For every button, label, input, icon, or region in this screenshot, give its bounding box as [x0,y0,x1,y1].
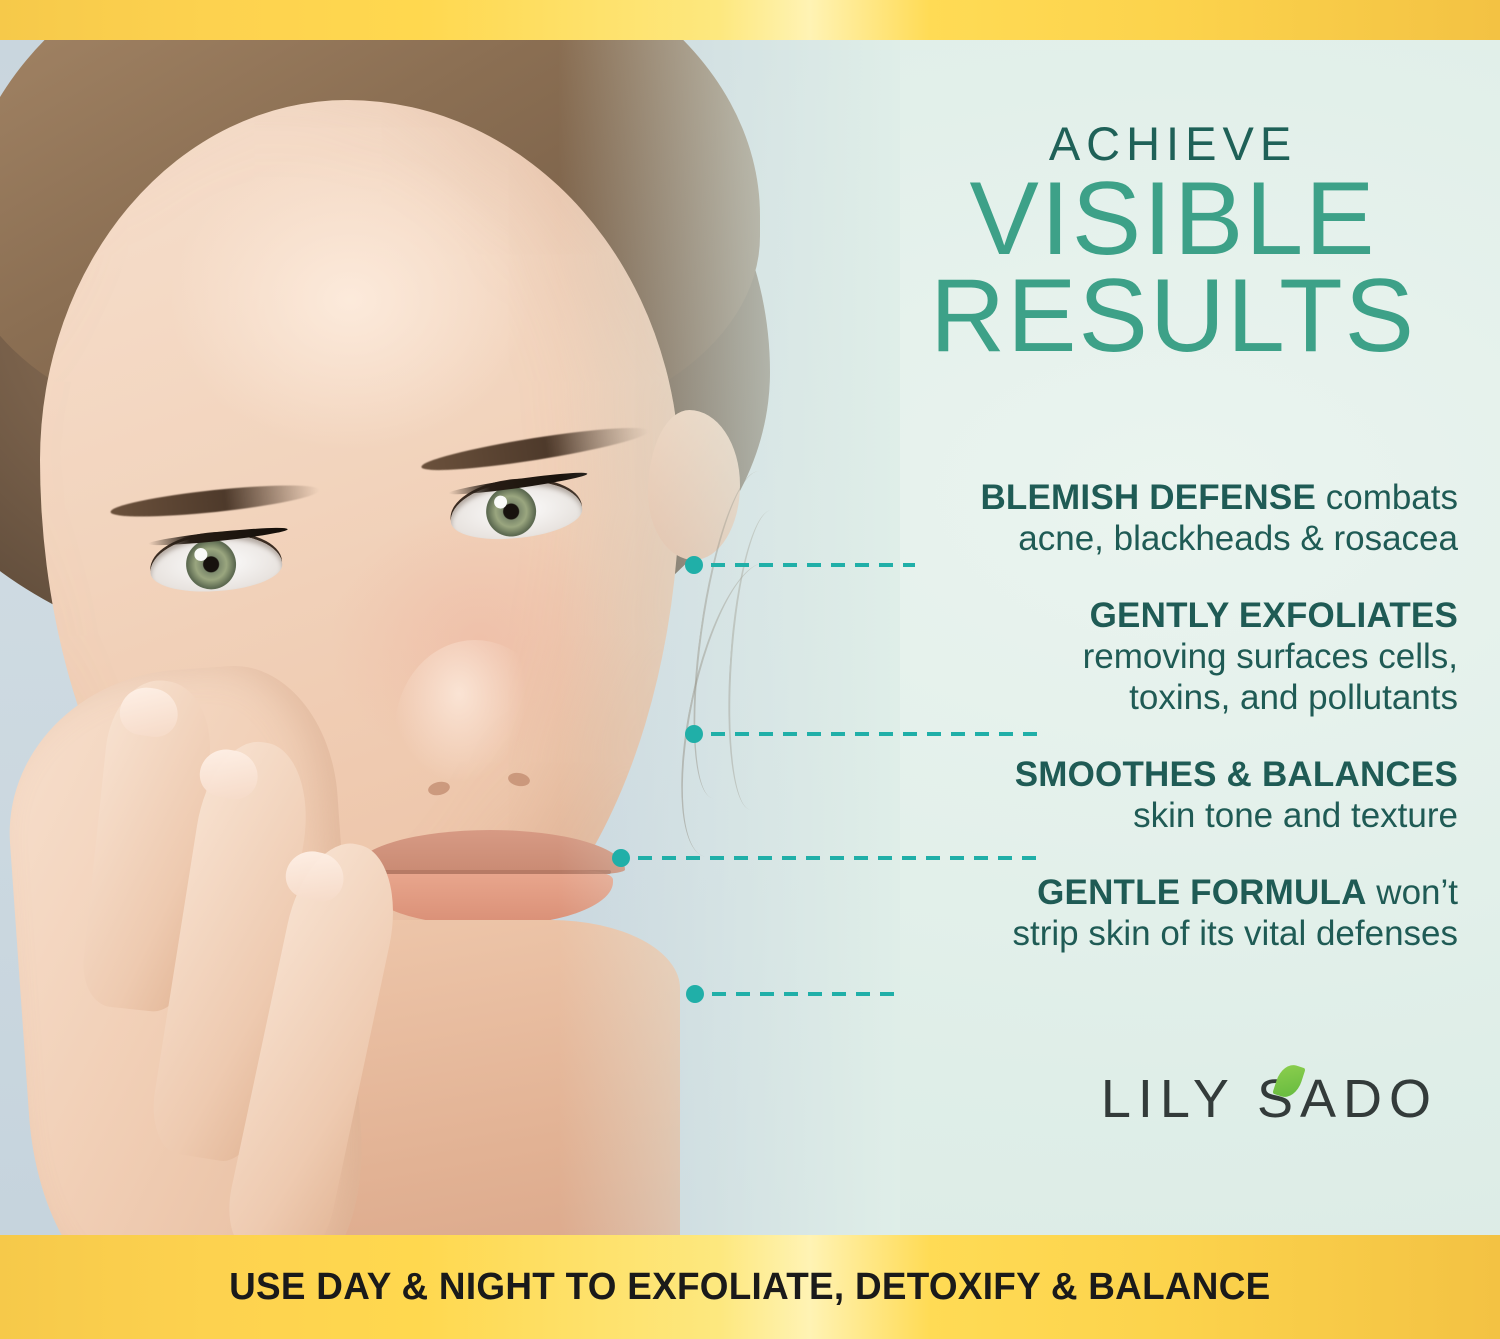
benefit-title: SMOOTHES & BALANCES [1015,755,1458,794]
benefit-item-blemish-defense: BLEMISH DEFENSE combats acne, blackheads… [858,478,1458,560]
benefit-title-suffix: won’t [1367,873,1458,912]
benefit-line-1: SMOOTHES & BALANCES [858,755,1458,796]
headline-block: ACHIEVE VISIBLE RESULTS [888,120,1458,364]
benefit-line-1: BLEMISH DEFENSE combats [858,478,1458,519]
product-infographic-poster: ACHIEVE VISIBLE RESULTS BLEMISH DEFENSE … [0,0,1500,1339]
benefit-line-1: GENTLY EXFOLIATES [858,596,1458,637]
headline-main: VISIBLE RESULTS [888,171,1458,364]
benefit-title-suffix: combats [1316,478,1458,517]
headline-line-2: RESULTS [888,268,1458,365]
bottom-accent-band: USE DAY & NIGHT TO EXFOLIATE, DETOXIFY &… [0,1235,1500,1339]
leader-line-gentle-formula [686,985,901,1003]
benefit-line-2: acne, blackheads & rosacea [858,519,1458,560]
bottom-banner-text: USE DAY & NIGHT TO EXFOLIATE, DETOXIFY &… [229,1266,1270,1309]
leader-dash-icon [638,856,1037,860]
photo-edge-fade [0,40,900,1235]
benefits-list: BLEMISH DEFENSE combats acne, blackheads… [858,478,1458,954]
benefit-title: BLEMISH DEFENSE [980,478,1316,517]
leader-dash-icon [712,992,901,996]
leader-dot-icon [685,725,703,743]
model-portrait-photo [0,40,900,1235]
leader-line-smoothes-balances [612,849,1037,867]
leader-dot-icon [612,849,630,867]
leader-dash-icon [711,732,1040,736]
benefit-title: GENTLY EXFOLIATES [1090,596,1458,635]
benefit-line-2: skin tone and texture [858,796,1458,837]
brand-name: LILY SADO [1101,1072,1438,1126]
benefit-item-smoothes-balances: SMOOTHES & BALANCES skin tone and textur… [858,755,1458,837]
benefit-item-gently-exfoliates: GENTLY EXFOLIATES removing surfaces cell… [858,596,1458,719]
headline-line-1: VISIBLE [888,171,1458,268]
benefit-line-1: GENTLE FORMULA won’t [858,873,1458,914]
benefit-line-3: toxins, and pollutants [858,678,1458,719]
leader-dot-icon [686,985,704,1003]
benefit-item-gentle-formula: GENTLE FORMULA won’t strip skin of its v… [858,873,1458,955]
leader-dot-icon [685,556,703,574]
benefit-title: GENTLE FORMULA [1037,873,1366,912]
benefit-line-2: strip skin of its vital defenses [858,914,1458,955]
leader-dash-icon [711,563,915,567]
top-accent-band [0,0,1500,40]
leader-line-blemish-defense [685,556,915,574]
headline-kicker: ACHIEVE [888,120,1458,167]
benefit-line-2: removing surfaces cells, [858,637,1458,678]
brand-logo: LILY SADO [1101,1072,1438,1126]
leader-line-gently-exfoliates [685,725,1040,743]
